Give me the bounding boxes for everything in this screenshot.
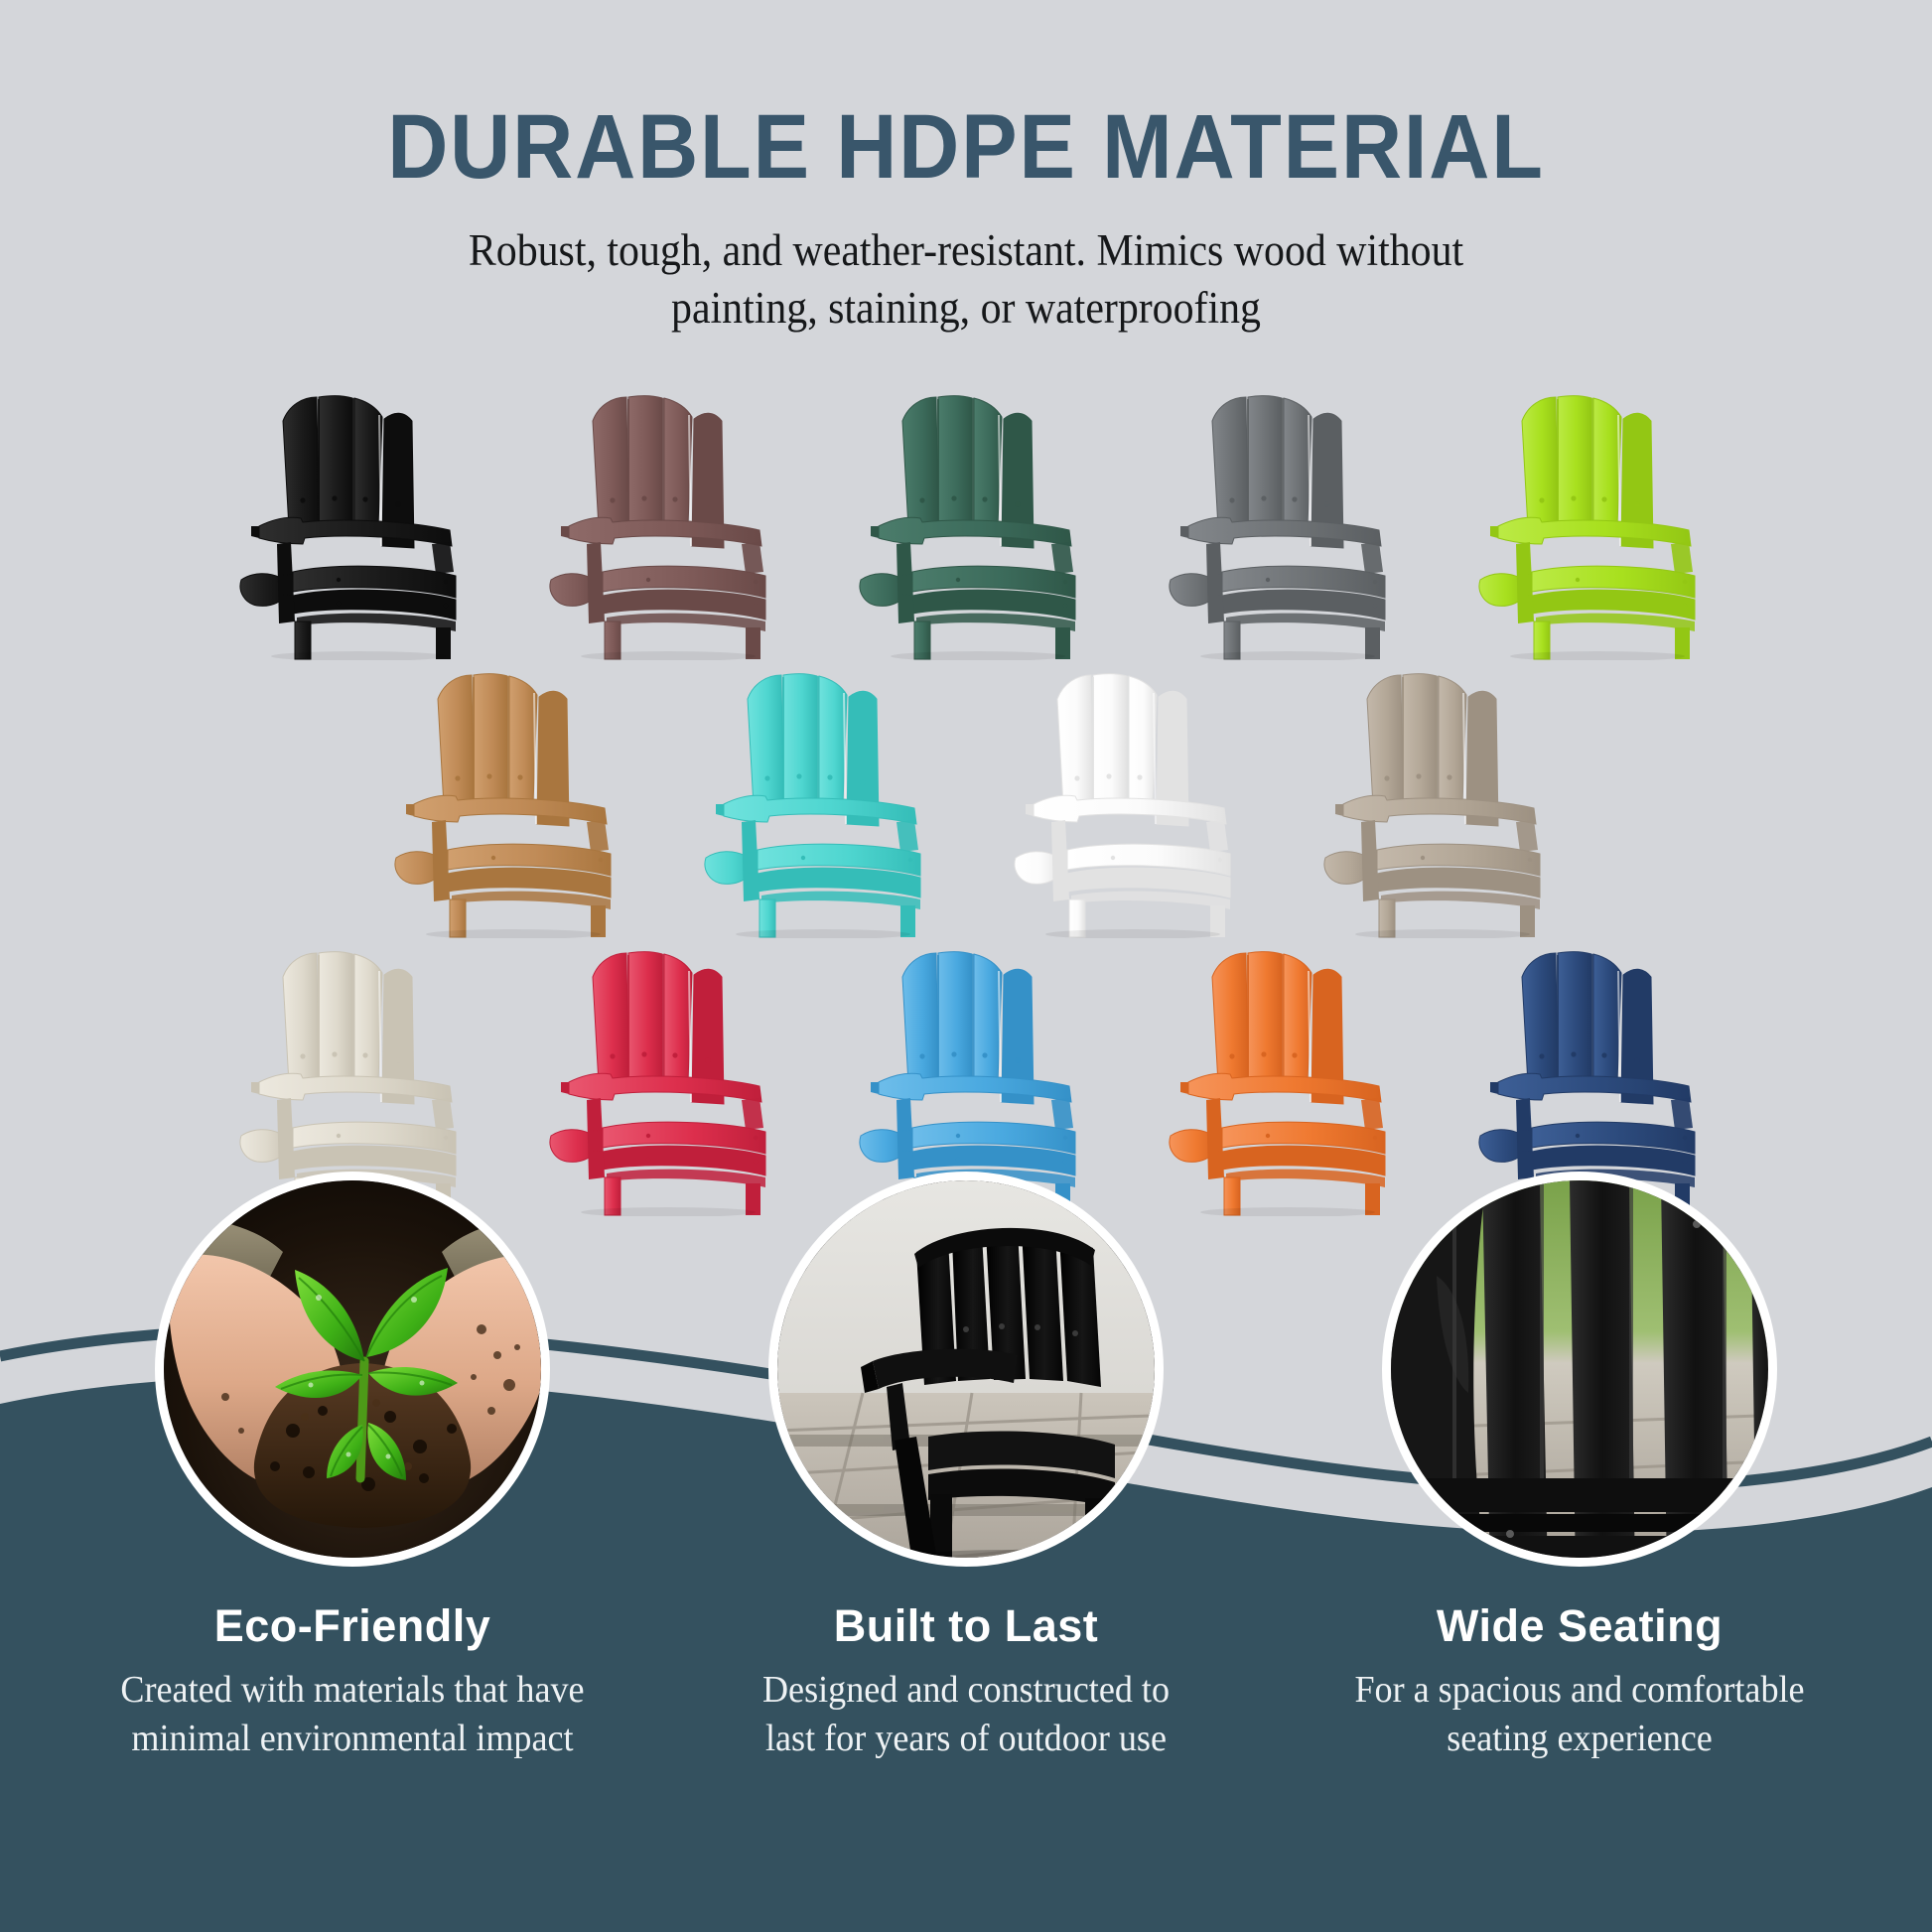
adirondack-chair-svg xyxy=(684,655,938,938)
feature-description: For a spacious and comfortable seating e… xyxy=(1297,1666,1863,1764)
feature-desc-line-2: minimal environmental impact xyxy=(69,1715,635,1763)
page-title: DURABLE HDPE MATERIAL xyxy=(77,0,1855,196)
feature-desc-line-1: Created with materials that have xyxy=(69,1666,635,1715)
chair-black[interactable] xyxy=(192,367,501,665)
feature-description: Designed and constructed to last for yea… xyxy=(683,1666,1249,1764)
feature-desc-line-2: seating experience xyxy=(1297,1715,1863,1763)
page-subtitle: Robust, tough, and weather-resistant. Mi… xyxy=(347,221,1585,338)
chair-image-brown xyxy=(529,377,783,660)
adirondack-chair-svg xyxy=(374,655,628,938)
infographic-canvas: DURABLE HDPE MATERIAL Robust, tough, and… xyxy=(0,0,1932,1932)
chair-armrest xyxy=(569,517,761,546)
feature-wide-seating: Wide Seating For a spacious and comforta… xyxy=(1282,1172,1877,1764)
chair-armrest xyxy=(879,517,1071,546)
header: DURABLE HDPE MATERIAL Robust, tough, and… xyxy=(0,0,1932,338)
chair-dark-green[interactable] xyxy=(811,367,1121,665)
black-chair-patio-photo xyxy=(777,1180,1155,1558)
chair-taupe[interactable] xyxy=(1276,645,1586,943)
chair-image-turquoise xyxy=(684,655,938,938)
feature-desc-line-1: Designed and constructed to xyxy=(683,1666,1249,1715)
chair-color-grid xyxy=(0,367,1932,1241)
chair-armrest xyxy=(1034,795,1226,824)
chair-armrest xyxy=(1498,517,1691,546)
adirondack-chair-svg xyxy=(839,377,1093,660)
chair-armrest xyxy=(1498,1073,1691,1102)
chair-image-white xyxy=(994,655,1248,938)
feature-title: Built to Last xyxy=(668,1600,1264,1652)
adirondack-chair-svg xyxy=(994,655,1248,938)
chair-armrest xyxy=(1343,795,1536,824)
adirondack-chair-svg xyxy=(1304,655,1558,938)
feature-eco-friendly: Eco-Friendly Created with materials that… xyxy=(55,1172,650,1764)
chair-image-lime-green xyxy=(1458,377,1713,660)
feature-description: Created with materials that have minimal… xyxy=(69,1666,635,1764)
adirondack-chair-svg xyxy=(1149,377,1403,660)
adirondack-chair-svg xyxy=(529,377,783,660)
chair-armrest xyxy=(259,517,452,546)
chair-armrest xyxy=(724,795,916,824)
chair-row-2 xyxy=(0,645,1932,943)
chair-armrest xyxy=(569,1073,761,1102)
chair-gray[interactable] xyxy=(1121,367,1431,665)
hands-seedling-icon xyxy=(164,1180,541,1558)
feature-image-eco-friendly xyxy=(155,1172,550,1567)
adirondack-chair-svg xyxy=(219,377,474,660)
chair-armrest xyxy=(879,1073,1071,1102)
chair-image-taupe xyxy=(1304,655,1558,938)
chair-row-1 xyxy=(0,367,1932,665)
chair-teak[interactable] xyxy=(346,645,656,943)
subtitle-line-1: Robust, tough, and weather-resistant. Mi… xyxy=(347,221,1585,280)
chair-image-dark-green xyxy=(839,377,1093,660)
chair-back-closeup-photo xyxy=(1391,1180,1768,1558)
feature-image-built-to-last xyxy=(768,1172,1164,1567)
chair-armrest xyxy=(259,1073,452,1102)
chair-turquoise[interactable] xyxy=(656,645,966,943)
feature-built-to-last: Built to Last Designed and constructed t… xyxy=(668,1172,1264,1764)
feature-image-wide-seating xyxy=(1382,1172,1777,1567)
adirondack-chair-svg xyxy=(1458,377,1713,660)
feature-list: Eco-Friendly Created with materials that… xyxy=(0,1172,1932,1932)
chair-armrest xyxy=(1188,517,1381,546)
feature-desc-line-2: last for years of outdoor use xyxy=(683,1715,1249,1763)
chair-white[interactable] xyxy=(966,645,1276,943)
subtitle-line-2: painting, staining, or waterproofing xyxy=(347,279,1585,338)
feature-title: Eco-Friendly xyxy=(55,1600,650,1652)
chair-lime-green[interactable] xyxy=(1431,367,1740,665)
chair-image-gray xyxy=(1149,377,1403,660)
chair-brown[interactable] xyxy=(501,367,811,665)
chair-armrest xyxy=(1188,1073,1381,1102)
chair-image-teak xyxy=(374,655,628,938)
feature-desc-line-1: For a spacious and comfortable xyxy=(1297,1666,1863,1715)
chair-image-black xyxy=(219,377,474,660)
chair-armrest xyxy=(414,795,607,824)
feature-title: Wide Seating xyxy=(1282,1600,1877,1652)
